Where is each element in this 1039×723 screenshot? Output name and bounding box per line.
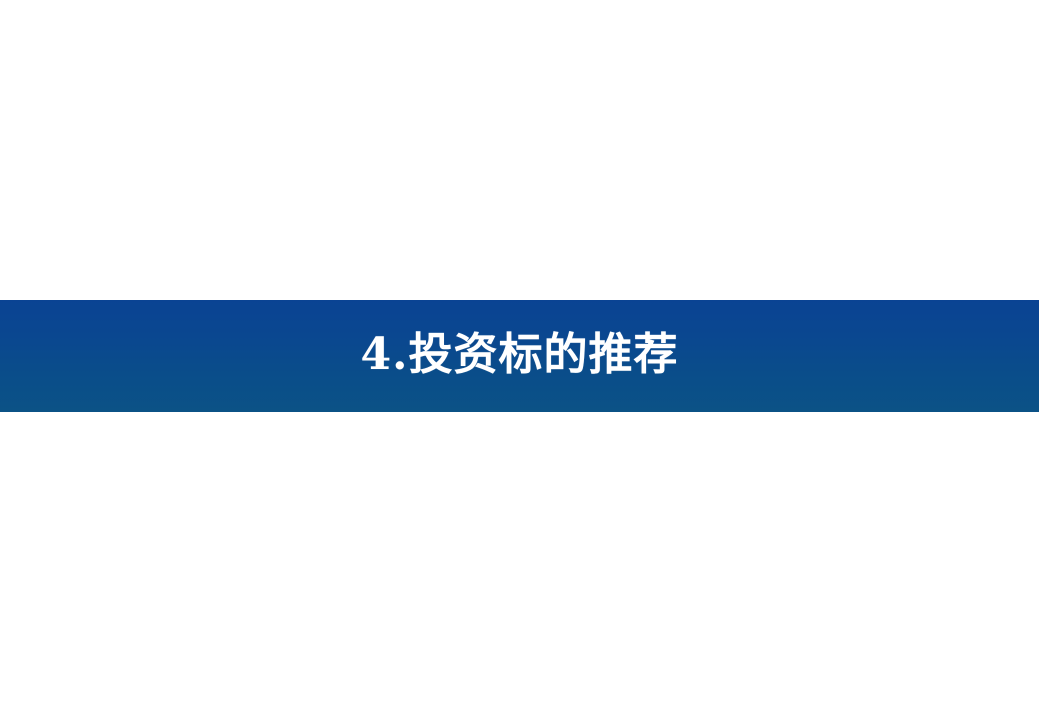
slide-lower-blank-area [0, 412, 1039, 662]
section-title-band: 4.投资标的推荐 [0, 300, 1039, 412]
slide-upper-blank-area [0, 0, 1039, 300]
presentation-slide: 4.投资标的推荐 长城证券 GREAT WALL SECURITIES [0, 0, 1039, 723]
slide-footer: 长城证券 GREAT WALL SECURITIES www.cgws.com|… [0, 662, 1039, 723]
section-title-text: 4.投资标的推荐 [361, 333, 679, 377]
